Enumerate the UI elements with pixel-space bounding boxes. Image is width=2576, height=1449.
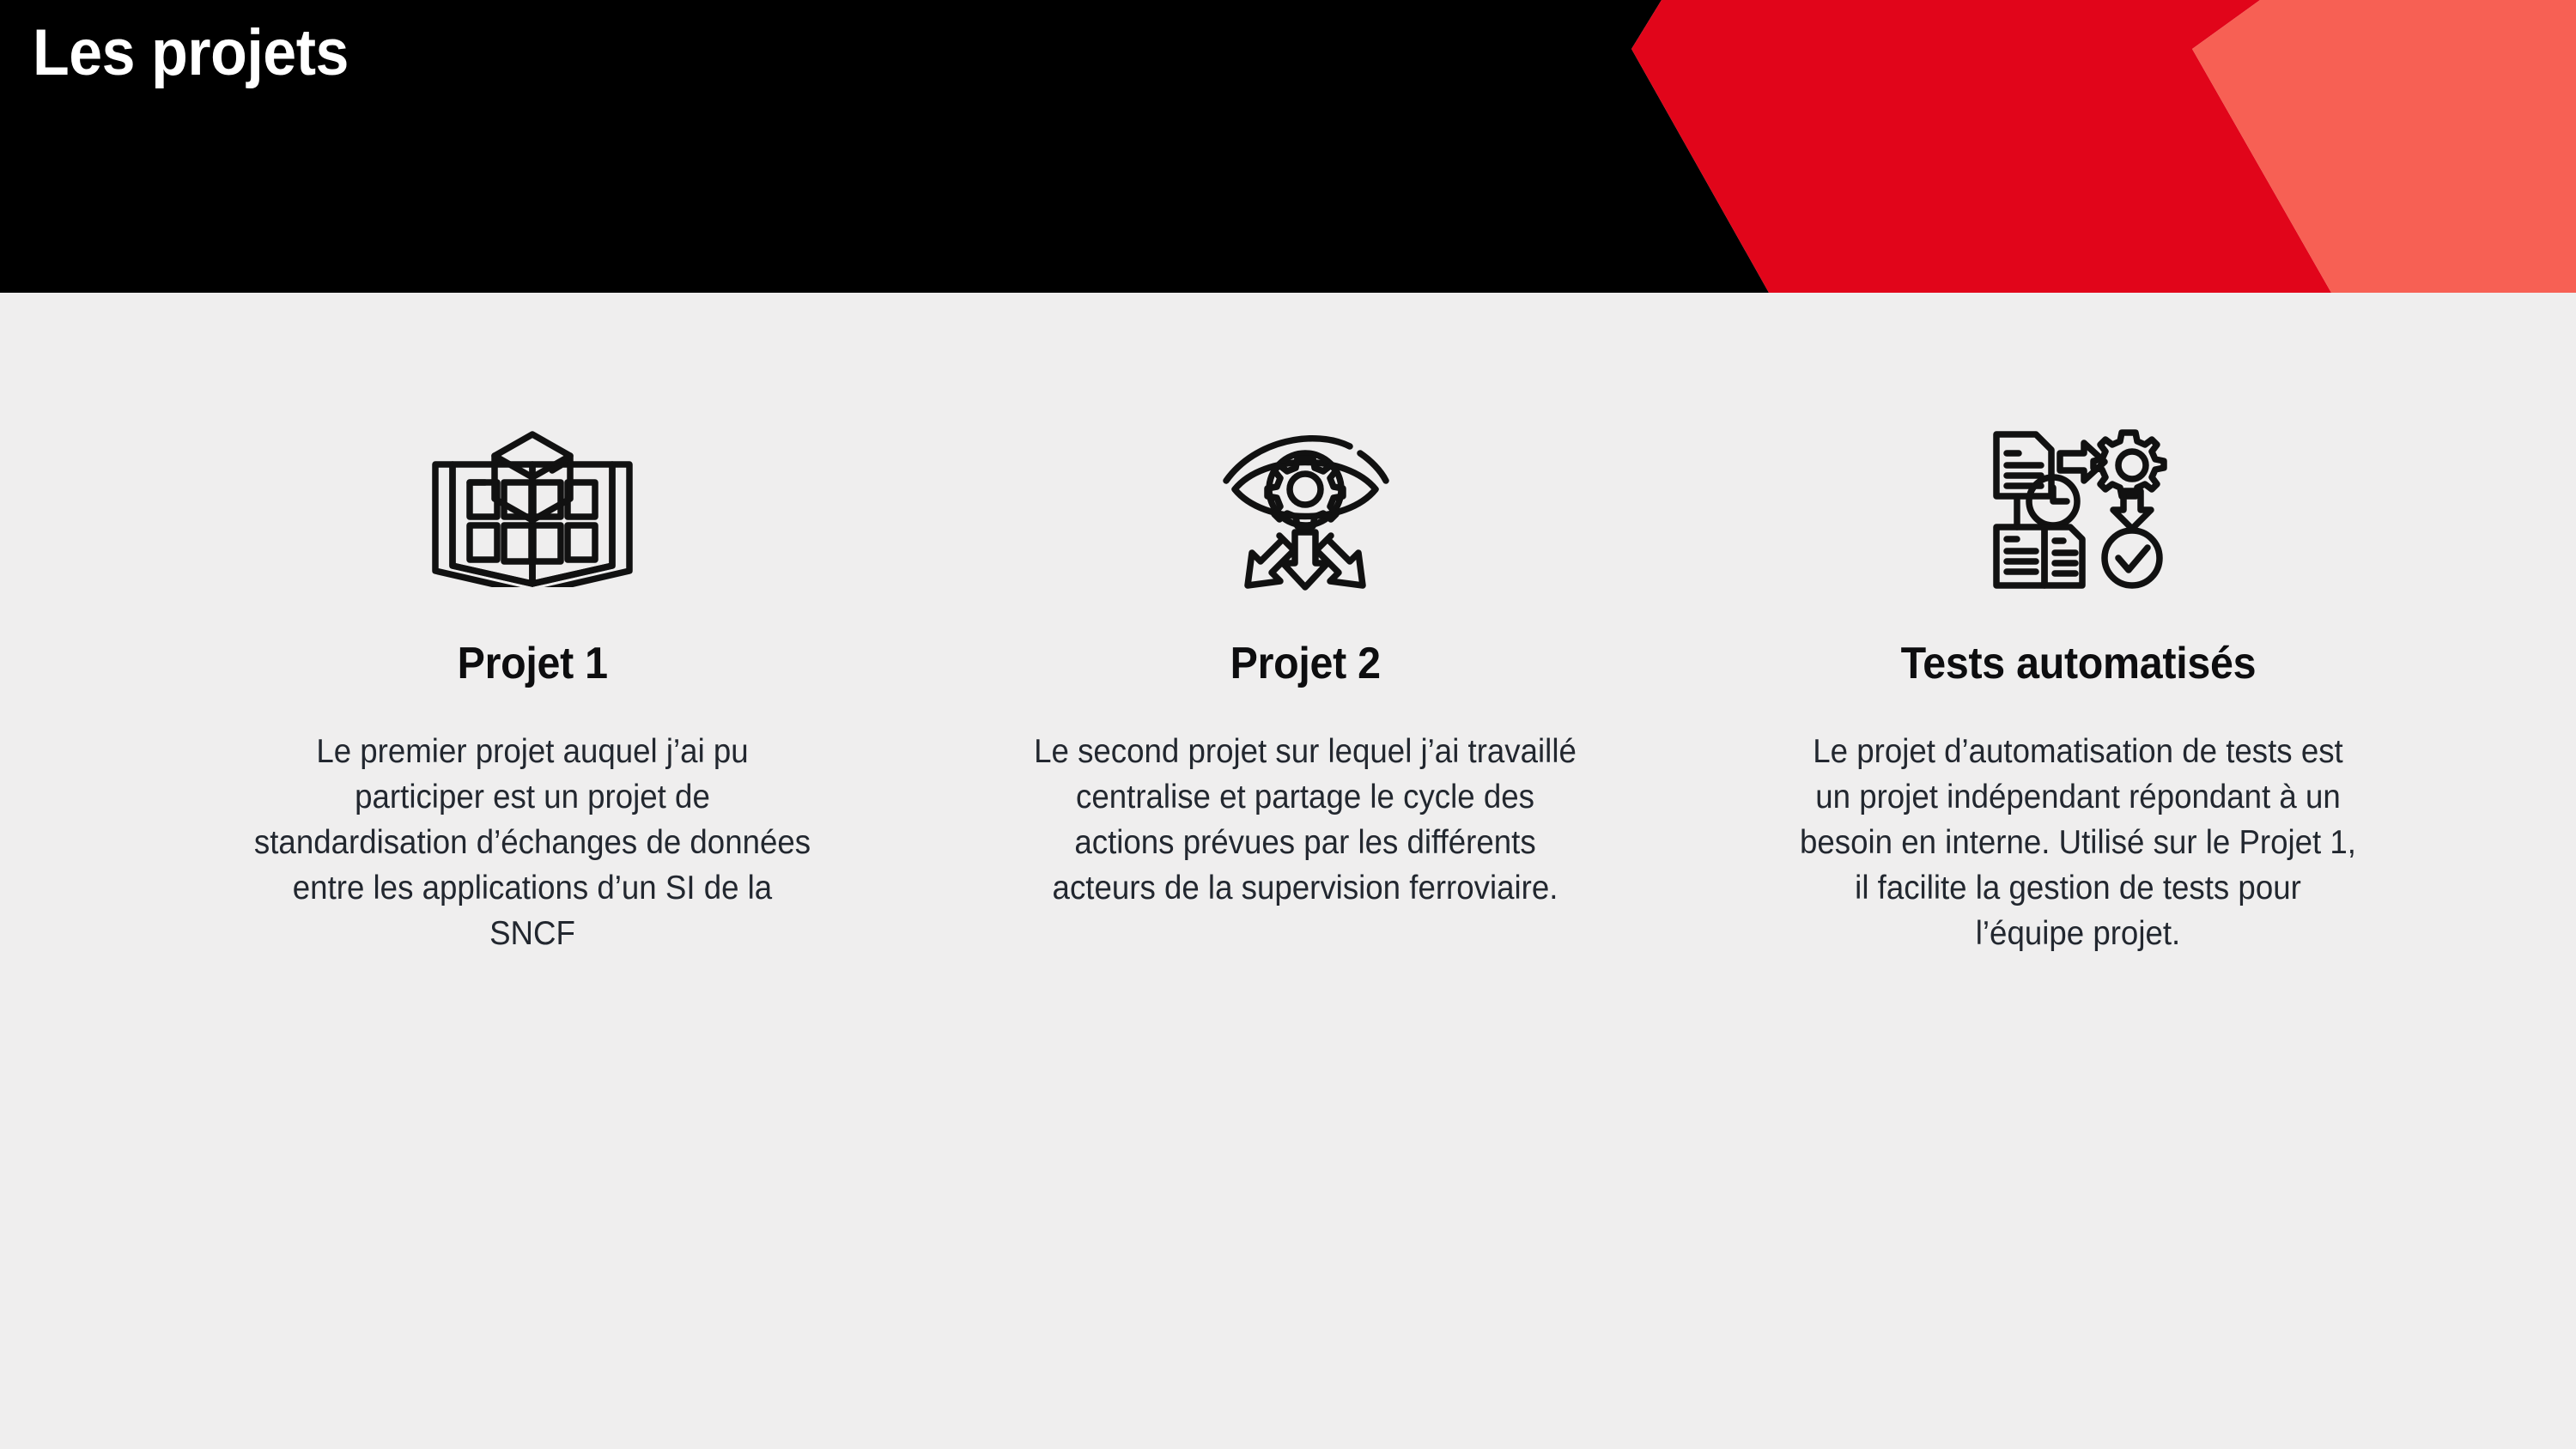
project-card-1: Projet 1 Le premier projet auquel j’ai p… xyxy=(146,293,919,956)
project-body-3: Le projet d’automatisation de tests est … xyxy=(1800,729,2357,956)
page-title: Les projets xyxy=(33,19,349,88)
project-card-2: Projet 2 Le second projet sur lequel j’a… xyxy=(919,293,1692,911)
document-gear-check-icon xyxy=(1988,423,2168,595)
project-card-3: Tests automatisés Le projet d’automatisa… xyxy=(1692,293,2464,956)
page-header: Les projets xyxy=(0,0,2576,293)
project-title-3: Tests automatisés xyxy=(1900,638,2256,689)
eye-gear-arrows-icon xyxy=(1221,423,1389,595)
project-title-1: Projet 1 xyxy=(457,638,607,689)
open-book-cube-icon xyxy=(430,423,635,595)
project-title-2: Projet 2 xyxy=(1230,638,1380,689)
projects-grid: Projet 1 Le premier projet auquel j’ai p… xyxy=(0,293,2576,1449)
project-body-1: Le premier projet auquel j’ai pu partici… xyxy=(254,729,811,956)
project-body-2: Le second projet sur lequel j’ai travail… xyxy=(1027,729,1584,911)
